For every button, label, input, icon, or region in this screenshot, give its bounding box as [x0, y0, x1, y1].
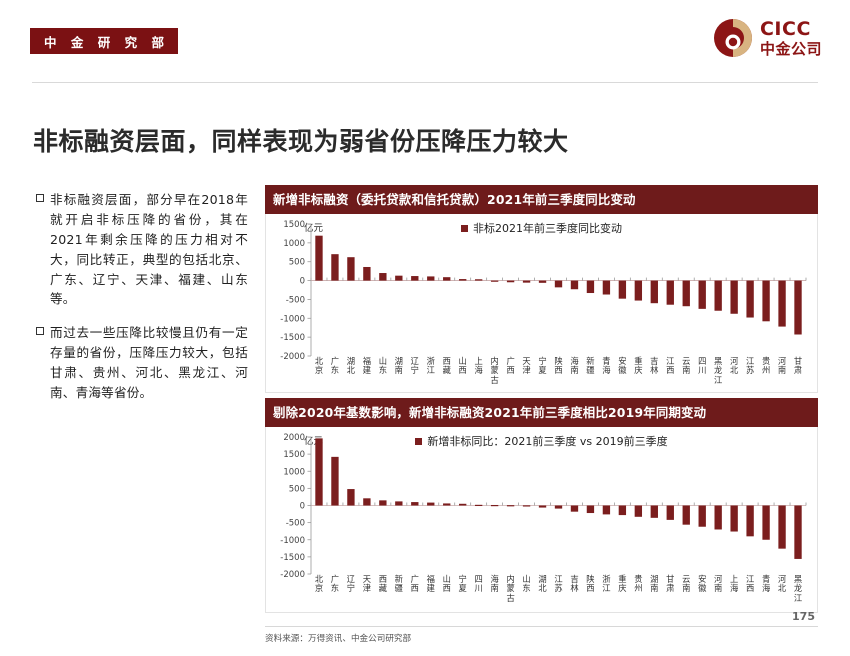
x-axis-label: 甘肃	[790, 357, 806, 385]
x-axis-label: 安徽	[694, 575, 710, 603]
x-axis-label: 贵州	[630, 575, 646, 603]
x-axis-label: 河北	[774, 575, 790, 603]
slide-page: 中 金 研 究 部 CICC 中金公司 非标融资层面，同样表现为弱省份压降压力较…	[0, 0, 850, 656]
x-axis-label: 浙江	[423, 357, 439, 385]
svg-text:-500: -500	[286, 295, 305, 305]
chart-panel-2: 剔除2020年基数影响，新增非标融资2021年前三季度相比2019年同期变动 新…	[265, 398, 818, 613]
bullet-list: 非标融资层面，部分早在2018年就开启非标压降的省份，其在2021年剩余压降的压…	[36, 190, 248, 417]
x-axis-label: 辽宁	[343, 575, 359, 603]
x-axis-label: 海南	[487, 575, 503, 603]
x-axis-label: 福建	[423, 575, 439, 603]
x-axis-label: 广东	[327, 575, 343, 603]
svg-text:-2000: -2000	[280, 570, 305, 577]
x-axis-label: 重庆	[614, 575, 630, 603]
x-axis-label: 新疆	[391, 575, 407, 603]
x-axis-label: 湖北	[535, 575, 551, 603]
logo-text-en: CICC	[760, 20, 822, 39]
svg-text:-1000: -1000	[280, 314, 305, 324]
svg-text:-2000: -2000	[280, 352, 305, 359]
chart-panel-1: 新增非标融资（委托贷款和信托贷款）2021年前三季度同比变动 非标2021年前三…	[265, 185, 818, 393]
x-axis-label: 北京	[311, 357, 327, 385]
x-axis-label: 山东	[375, 357, 391, 385]
x-axis-label: 云南	[678, 575, 694, 603]
svg-text:1000: 1000	[283, 467, 305, 477]
cicc-logo-icon	[713, 18, 753, 58]
x-axis-label: 北京	[311, 575, 327, 603]
chart-2-plot: 2000150010005000-500-1000-1500-2000	[266, 427, 819, 577]
svg-text:-1500: -1500	[280, 553, 305, 563]
x-axis-label: 青海	[758, 575, 774, 603]
x-axis-label: 陕西	[582, 575, 598, 603]
brand-tag: 中 金 研 究 部	[30, 28, 178, 54]
x-axis-label: 河北	[726, 357, 742, 385]
x-axis-label: 广西	[503, 357, 519, 385]
page-title: 非标融资层面，同样表现为弱省份压降压力较大	[33, 122, 569, 158]
chart-2-title: 剔除2020年基数影响，新增非标融资2021年前三季度相比2019年同期变动	[265, 398, 818, 427]
svg-text:1500: 1500	[283, 450, 305, 460]
x-axis-label: 福建	[359, 357, 375, 385]
list-item: 而过去一些压降比较慢且仍有一定存量的省份，压降压力较大，包括甘肃、贵州、河北、黑…	[36, 323, 248, 403]
x-axis-label: 重庆	[630, 357, 646, 385]
x-axis-label: 宁夏	[455, 575, 471, 603]
x-axis-label: 西藏	[375, 575, 391, 603]
x-axis-label: 天津	[519, 357, 535, 385]
x-axis-label: 云南	[678, 357, 694, 385]
x-axis-label: 山东	[519, 575, 535, 603]
chart-1-plot: 150010005000-500-1000-1500-2000	[266, 214, 819, 359]
chart-2-x-axis-labels: 北京广东辽宁天津西藏新疆广西福建山西宁夏四川海南内蒙古山东湖北江苏吉林陕西浙江重…	[311, 575, 806, 603]
x-axis-label: 海南	[567, 357, 583, 385]
x-axis-label: 河南	[710, 575, 726, 603]
x-axis-label: 黑龙江	[790, 575, 806, 603]
x-axis-label: 青海	[598, 357, 614, 385]
x-axis-label: 贵州	[758, 357, 774, 385]
svg-text:-500: -500	[286, 519, 305, 529]
x-axis-label: 上海	[726, 575, 742, 603]
header-divider	[32, 82, 818, 83]
source-note: 资料来源：万得资讯、中金公司研究部	[265, 632, 411, 644]
x-axis-label: 宁夏	[535, 357, 551, 385]
chart-1-x-axis-labels: 北京广东湖北福建山东湖南辽宁浙江西藏山西上海内蒙古广西天津宁夏陕西海南新疆青海安…	[311, 357, 806, 385]
bullet-square-icon	[36, 327, 44, 335]
x-axis-label: 黑龙江	[710, 357, 726, 385]
page-number: 175	[792, 610, 815, 623]
x-axis-label: 山西	[455, 357, 471, 385]
list-item: 非标融资层面，部分早在2018年就开启非标压降的省份，其在2021年剩余压降的压…	[36, 190, 248, 309]
bullet-text: 非标融资层面，部分早在2018年就开启非标压降的省份，其在2021年剩余压降的压…	[50, 190, 248, 309]
x-axis-label: 四川	[471, 575, 487, 603]
chart-1-body: 非标2021年前三季度同比变动 亿元 150010005000-500-1000…	[265, 214, 818, 393]
footer-divider	[265, 626, 818, 627]
x-axis-label: 广西	[407, 575, 423, 603]
svg-text:2000: 2000	[283, 433, 305, 443]
x-axis-label: 上海	[471, 357, 487, 385]
x-axis-label: 浙江	[598, 575, 614, 603]
x-axis-label: 辽宁	[407, 357, 423, 385]
cicc-logo-text: CICC 中金公司	[760, 20, 822, 57]
svg-text:1000: 1000	[283, 239, 305, 249]
x-axis-label: 山西	[439, 575, 455, 603]
x-axis-label: 湖北	[343, 357, 359, 385]
x-axis-label: 安徽	[614, 357, 630, 385]
chart-1-title: 新增非标融资（委托贷款和信托贷款）2021年前三季度同比变动	[265, 185, 818, 214]
x-axis-label: 四川	[694, 357, 710, 385]
x-axis-label: 江西	[662, 357, 678, 385]
svg-text:-1500: -1500	[280, 333, 305, 343]
svg-text:500: 500	[289, 258, 305, 268]
x-axis-label: 江苏	[551, 575, 567, 603]
bullet-square-icon	[36, 194, 44, 202]
svg-text:0: 0	[300, 277, 305, 287]
svg-text:500: 500	[289, 484, 305, 494]
svg-text:1500: 1500	[283, 220, 305, 230]
x-axis-label: 江西	[742, 575, 758, 603]
x-axis-label: 吉林	[567, 575, 583, 603]
x-axis-label: 湖南	[391, 357, 407, 385]
bullet-text: 而过去一些压降比较慢且仍有一定存量的省份，压降压力较大，包括甘肃、贵州、河北、黑…	[50, 323, 248, 403]
x-axis-label: 甘肃	[662, 575, 678, 603]
cicc-logo: CICC 中金公司	[713, 18, 822, 58]
logo-text-cn: 中金公司	[760, 42, 822, 57]
x-axis-label: 西藏	[439, 357, 455, 385]
x-axis-label: 广东	[327, 357, 343, 385]
x-axis-label: 江苏	[742, 357, 758, 385]
x-axis-label: 河南	[774, 357, 790, 385]
brand-tag-label: 中 金 研 究 部	[39, 32, 169, 51]
x-axis-label: 新疆	[582, 357, 598, 385]
chart-2-body: 新增非标同比：2021前三季度 vs 2019前三季度 亿元 200015001…	[265, 427, 818, 613]
x-axis-label: 陕西	[551, 357, 567, 385]
x-axis-label: 吉林	[646, 357, 662, 385]
x-axis-label: 天津	[359, 575, 375, 603]
svg-text:-1000: -1000	[280, 536, 305, 546]
svg-text:0: 0	[300, 502, 305, 512]
x-axis-label: 内蒙古	[487, 357, 503, 385]
x-axis-label: 内蒙古	[503, 575, 519, 603]
x-axis-label: 湖南	[646, 575, 662, 603]
